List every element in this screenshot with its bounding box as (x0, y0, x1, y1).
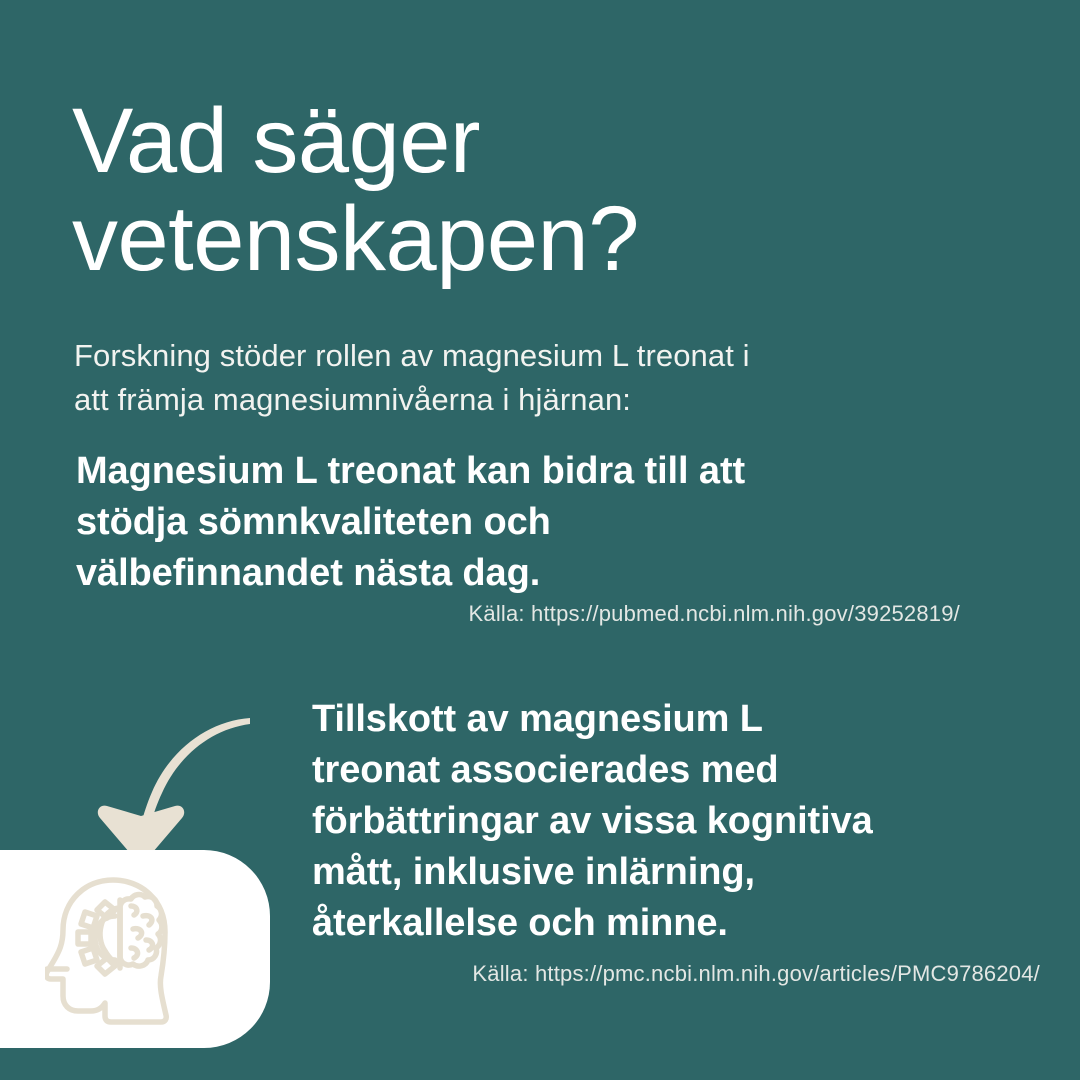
statement-1-source: Källa: https://pubmed.ncbi.nlm.nih.gov/3… (80, 601, 960, 627)
statement-2-text: Tillskott av magnesium L treonat associe… (312, 694, 1042, 949)
head-brain-gear-icon (45, 872, 195, 1027)
brain-icon-card (0, 850, 270, 1048)
statement-2-source: Källa: https://pmc.ncbi.nlm.nih.gov/arti… (160, 961, 1040, 987)
curved-down-arrow-icon (78, 688, 278, 873)
page-title: Vad säger vetenskapen? (72, 92, 932, 289)
statement-1-text: Magnesium L treonat kan bidra till att s… (76, 446, 976, 599)
infographic-canvas: Vad säger vetenskapen? Forskning stöder … (0, 0, 1080, 1080)
intro-paragraph: Forskning stöder rollen av magnesium L t… (74, 334, 974, 422)
